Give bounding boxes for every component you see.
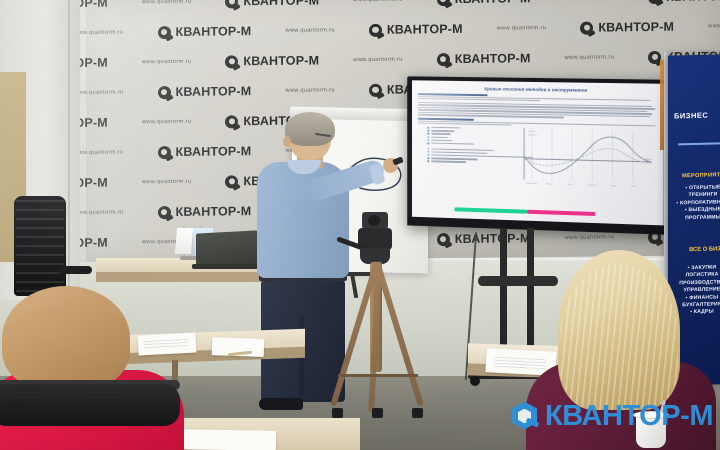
- bullet-icon: [427, 130, 429, 132]
- bullet-icon: [427, 154, 429, 156]
- svg-text:Рост: Рост: [568, 184, 573, 186]
- slide-highlight-pink: [527, 209, 595, 216]
- svg-text:Вывод: Вывод: [546, 183, 553, 185]
- svg-text:Прибыль: Прибыль: [528, 134, 538, 136]
- bullet-icon: [427, 133, 429, 135]
- svg-text:Время: Время: [645, 159, 653, 161]
- svg-text:Уход: Уход: [631, 186, 637, 188]
- chair-ribs: [16, 200, 64, 292]
- bullet-icon: [427, 151, 429, 153]
- coffee-cup-rim: [633, 411, 669, 419]
- bullet-icon: [427, 148, 429, 150]
- slide-paragraph: [418, 102, 658, 120]
- tv-stand-wheel: [470, 376, 480, 386]
- wall-tv-display[interactable]: Кривые описания методов и инструментов: [407, 76, 669, 234]
- bullet-icon: [427, 139, 429, 141]
- presentation-slide: Кривые описания методов и инструментов: [412, 80, 664, 225]
- bullet-icon: [427, 160, 429, 162]
- bullet-icon: [427, 142, 429, 144]
- coffee-cup: [636, 414, 666, 448]
- presenter-hair: [285, 112, 335, 146]
- camera-tripod: [330, 212, 430, 427]
- banner-divider: [678, 142, 720, 145]
- table-flag-white: [175, 228, 193, 254]
- bullet-icon: [427, 127, 429, 129]
- tripod-foot: [412, 408, 423, 418]
- svg-text:Зрелость: Зрелость: [588, 185, 597, 187]
- attendee-hair: [2, 286, 130, 390]
- tripod-foot: [372, 408, 383, 418]
- seminar-photo-scene: КВАНТОР-Мwww.quantorm.ruКВАНТОР-Мwww.qua…: [0, 0, 720, 450]
- tripod-foot: [332, 408, 343, 418]
- tv-screen: Кривые описания методов и инструментов: [412, 80, 664, 225]
- chair-armrest: [58, 266, 92, 274]
- lifecycle-chart: Разработка Вывод Рост Зрелость Спад Уход…: [506, 125, 657, 191]
- presenter-ear: [283, 136, 291, 147]
- banner-list-item: ПРОГРАММЫ: [672, 214, 720, 223]
- slide-highlight-green: [454, 207, 527, 214]
- svg-text:Спад: Спад: [610, 185, 616, 187]
- attendee-right-burgundy: [536, 250, 720, 450]
- office-chair-front-left: [0, 384, 180, 426]
- bullet-icon: [427, 136, 429, 138]
- svg-text:Объём: Объём: [528, 131, 535, 133]
- tripod-spreader: [338, 374, 418, 377]
- bullet-icon: [427, 157, 429, 159]
- camera-lens-icon: [368, 215, 380, 226]
- banner-item-list: • ОТКРЫТЫЕТРЕНИНГИ• КОРПОРАТИВНЫЕ• ВЫЕЗД…: [672, 184, 720, 223]
- attendee-hair-strands: [560, 264, 678, 410]
- banner-subtitle: МЕРОПРИЯТИЯ: [682, 172, 720, 179]
- presenter-shoe: [259, 398, 303, 410]
- svg-text:Разработка: Разработка: [526, 183, 538, 185]
- slide-title: Кривые описания методов и инструментов: [418, 85, 658, 94]
- banner-title: БИЗНЕС: [674, 110, 720, 120]
